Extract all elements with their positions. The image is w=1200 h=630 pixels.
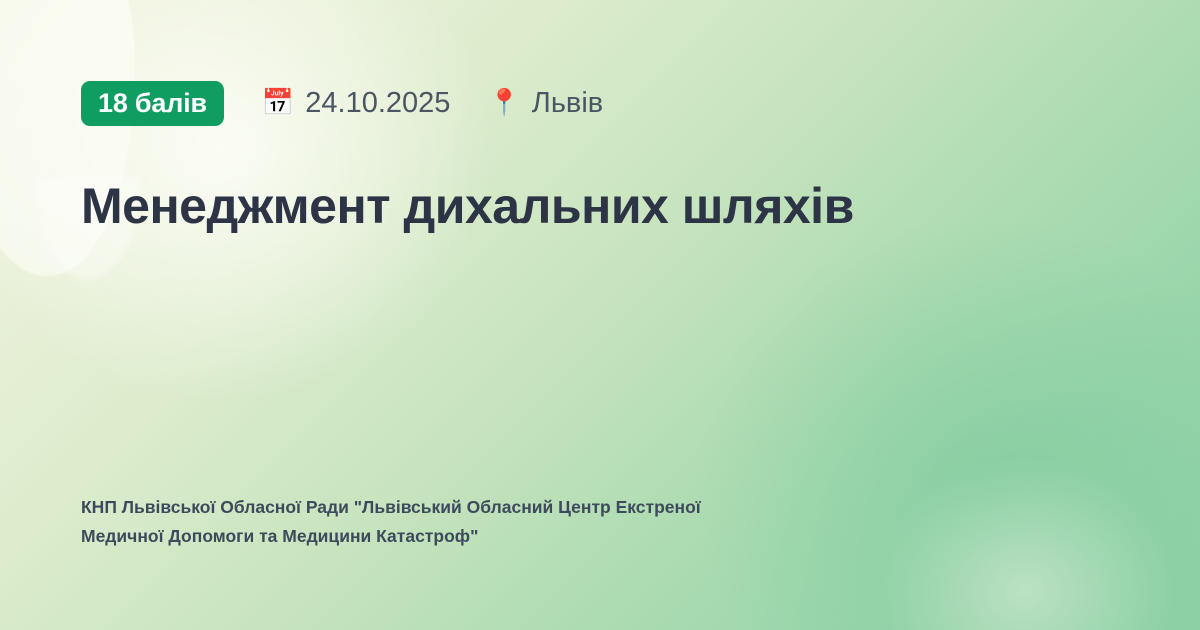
organizer-footer: КНП Львівської Обласної Ради "Львівський… [81, 493, 911, 566]
location-pin-icon: 📍 [488, 90, 520, 116]
card-content: 18 балів 📅 24.10.2025 📍 Львів Менеджмент… [0, 0, 1200, 630]
page-title: Менеджмент дихальних шляхів [81, 126, 1091, 236]
event-banner-card: 18 балів 📅 24.10.2025 📍 Львів Менеджмент… [0, 0, 1200, 630]
event-date-value: 24.10.2025 [305, 89, 450, 118]
meta-row: 18 балів 📅 24.10.2025 📍 Львів [81, 80, 1120, 126]
layout-spacer [81, 236, 1120, 494]
calendar-icon: 📅 [262, 90, 294, 116]
score-badge: 18 балів [81, 81, 224, 126]
event-location: 📍 Львів [488, 89, 603, 118]
organizer-name-line-1: КНП Львівської Обласної Ради "Львівський… [81, 493, 911, 521]
event-date: 📅 24.10.2025 [262, 89, 451, 118]
event-location-value: Львів [532, 89, 603, 118]
organizer-name-line-2: Медичної Допомоги та Медицини Катастроф" [81, 522, 911, 550]
